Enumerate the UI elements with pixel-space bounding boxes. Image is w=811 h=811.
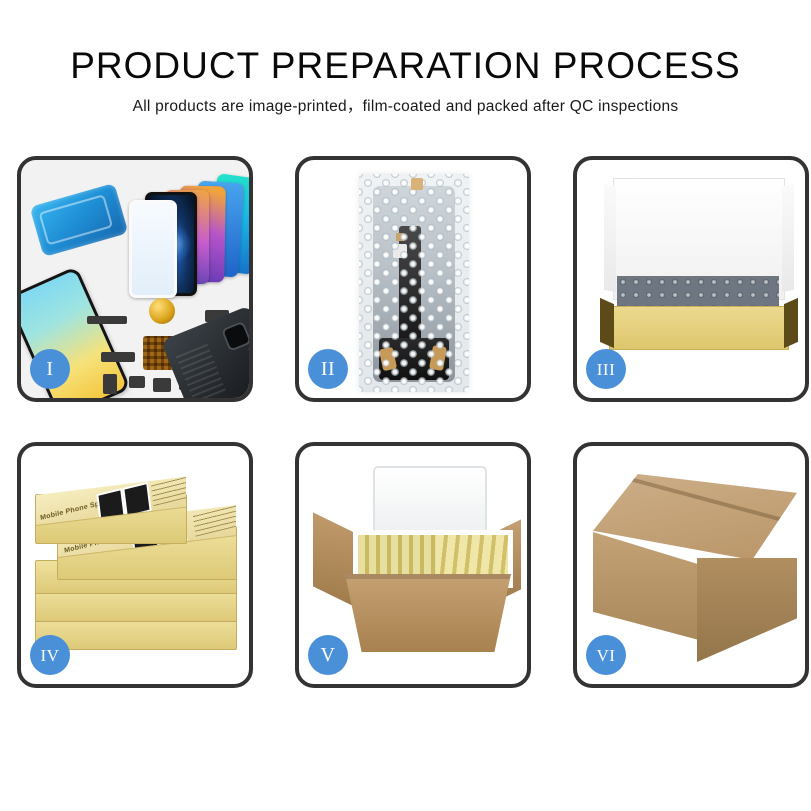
step-panel-2: II bbox=[295, 156, 531, 402]
flex-connector-icon bbox=[379, 338, 449, 380]
tape-mark-icon bbox=[623, 677, 641, 684]
step-numeral: I bbox=[46, 359, 53, 379]
step-badge-3: III bbox=[586, 349, 626, 389]
sim-tray-icon bbox=[129, 376, 145, 388]
flex-cable-icon bbox=[87, 316, 127, 324]
step-numeral: V bbox=[321, 645, 336, 665]
gold-coil-icon bbox=[149, 298, 175, 324]
process-step-grid: I II bbox=[17, 156, 797, 734]
box-top-face: Mobile Phone Spare Parts bbox=[36, 477, 186, 526]
step-numeral: IV bbox=[41, 647, 60, 664]
step-badge-5: V bbox=[308, 635, 348, 675]
screen-thumbnail-icon bbox=[96, 488, 125, 524]
step-badge-2: II bbox=[308, 349, 348, 389]
open-kraft-box-icon bbox=[601, 178, 791, 366]
product-preparation-infographic: PRODUCT PREPARATION PROCESS All products… bbox=[0, 0, 811, 811]
step-badge-4: IV bbox=[30, 635, 70, 675]
step-panel-1: I bbox=[17, 156, 253, 402]
tape-mark-icon bbox=[623, 621, 641, 647]
header: PRODUCT PREPARATION PROCESS All products… bbox=[0, 0, 811, 115]
step-panel-6: VI bbox=[573, 442, 809, 688]
battery-icon bbox=[103, 374, 117, 394]
step-numeral: III bbox=[597, 361, 615, 378]
bubble-wrap-bag-icon bbox=[359, 174, 469, 392]
page-subtitle: All products are image-printed，film-coat… bbox=[0, 84, 811, 115]
kraft-box-icon: Mobile Phone Spare Parts bbox=[35, 494, 187, 544]
screen-thumbnail-icon bbox=[122, 482, 151, 518]
box-front-panel-icon bbox=[609, 306, 789, 350]
open-carton-icon bbox=[317, 466, 517, 664]
step-panel-5: V bbox=[295, 442, 531, 688]
page-title: PRODUCT PREPARATION PROCESS bbox=[0, 0, 811, 84]
blue-screen-part-icon bbox=[30, 183, 129, 257]
step-numeral: VI bbox=[597, 647, 616, 664]
step-panel-4: Mobile Phone Spare Parts Mobile Phone Sp… bbox=[17, 442, 253, 688]
carton-front-panel-icon bbox=[345, 574, 511, 652]
sealed-carton-icon bbox=[593, 474, 797, 646]
ribbon-cable-icon bbox=[101, 352, 135, 362]
tape-tab-icon bbox=[411, 178, 423, 190]
foam-lid-icon bbox=[373, 466, 487, 536]
step-numeral: II bbox=[321, 359, 335, 379]
carton-left-face bbox=[593, 532, 699, 640]
phone-fan-group bbox=[139, 174, 249, 284]
step-badge-6: VI bbox=[586, 635, 626, 675]
box-spec-lines bbox=[193, 505, 236, 537]
box-spec-lines bbox=[151, 477, 186, 507]
phone-glass-protector-icon bbox=[129, 200, 177, 298]
speaker-icon bbox=[153, 378, 171, 392]
step-badge-1: I bbox=[30, 349, 70, 389]
carton-right-face bbox=[697, 558, 797, 662]
step-panel-3: III bbox=[573, 156, 809, 402]
screen-assembly-icon bbox=[373, 186, 455, 382]
